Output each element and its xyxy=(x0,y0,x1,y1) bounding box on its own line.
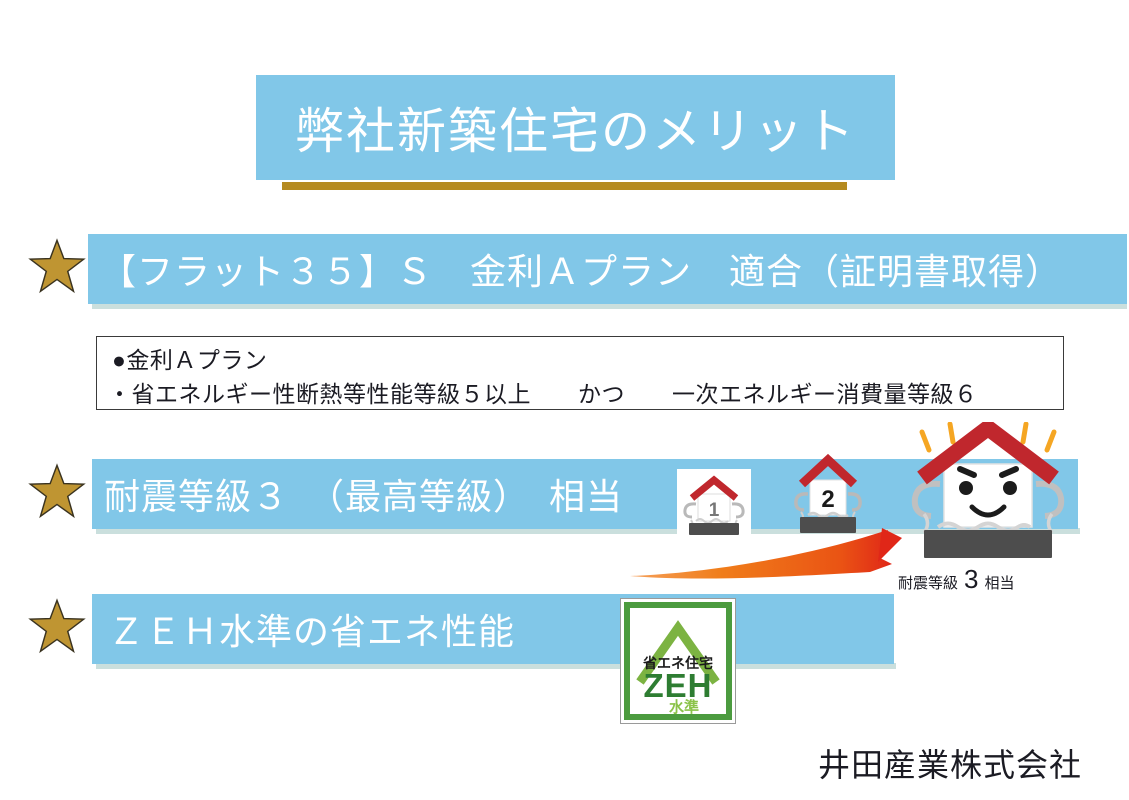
star-icon xyxy=(28,238,86,296)
detail-line-2: ・省エネルギー性断熱等性能等級５以上 かつ 一次エネルギー消費量等級６ xyxy=(108,375,978,409)
caption-suffix: 相当 xyxy=(984,572,1014,593)
caption-grade: 3 xyxy=(964,566,978,592)
title-underline-rule xyxy=(282,182,847,190)
house-level-3-featured-icon xyxy=(898,422,1078,577)
svg-text:水準: 水準 xyxy=(669,698,699,716)
zeh-house-logo-icon: 省エネ住宅 ZEH 水準 xyxy=(620,598,736,724)
upward-arrow-icon xyxy=(630,524,905,584)
bullet-label-zeh: ＺＥＨ水準の省エネ性能 xyxy=(108,594,515,664)
seismic-grade-caption: 耐震等級 3 相当 xyxy=(898,566,1015,593)
caption-prefix: 耐震等級 xyxy=(898,572,958,593)
page-title: 弊社新築住宅のメリット xyxy=(256,75,895,180)
bullet-label-seismic: 耐震等級３ （最高等級） 相当 xyxy=(104,459,623,529)
star-icon xyxy=(28,598,86,656)
star-icon xyxy=(28,463,86,521)
svg-text:2: 2 xyxy=(821,486,834,513)
company-name: 井田産業株式会社 xyxy=(818,740,1082,786)
slide-canvas: 弊社新築住宅のメリット 【フラット３５】Ｓ 金利Ａプラン 適合（証明書取得） ●… xyxy=(0,0,1129,800)
svg-text:1: 1 xyxy=(709,500,720,521)
bullet-label-flat35: 【フラット３５】Ｓ 金利Ａプラン 適合（証明書取得） xyxy=(100,234,1062,304)
detail-line-1: ●金利Ａプラン xyxy=(112,341,267,375)
